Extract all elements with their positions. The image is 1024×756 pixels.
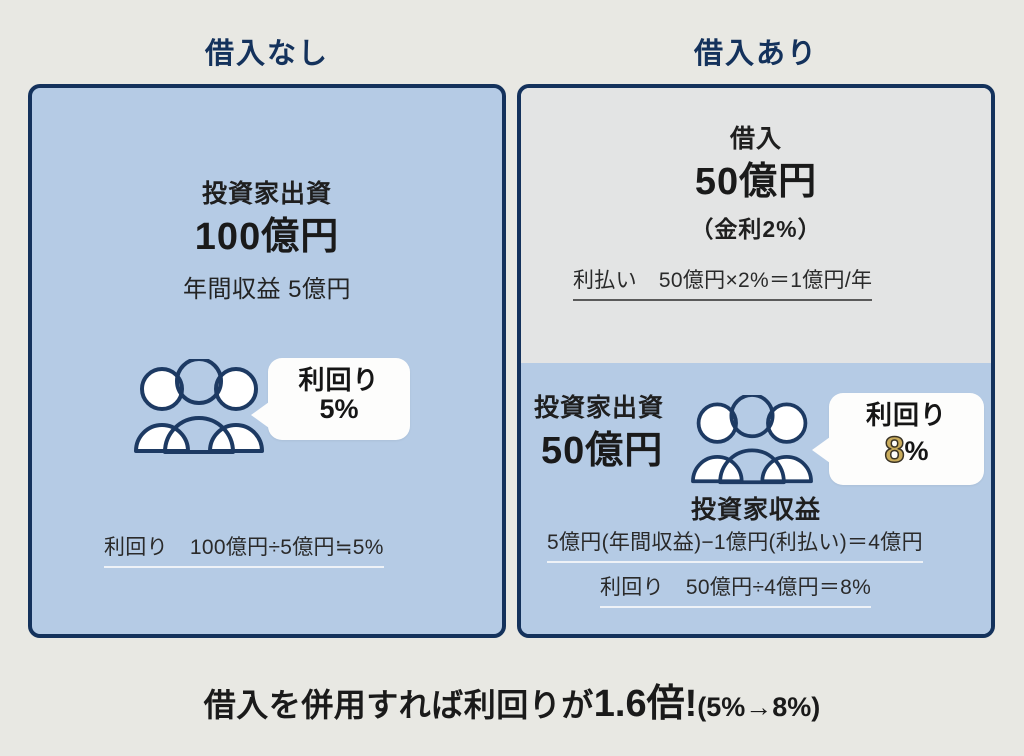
debt-interest-rate-note: （金利2%） (521, 210, 991, 244)
yield-callout-left: 利回り 5% (268, 358, 410, 440)
left-yield-formula-expression: 100億円÷5億円≒5% (190, 536, 384, 559)
caption-detail: (5%→8%) (697, 692, 820, 722)
debt-section: 借入 50億円 （金利2%） 利払い50億円×2%＝1億円/年 (521, 88, 991, 363)
callout-tail-icon (251, 402, 269, 428)
left-yield-formula-label: 利回り (104, 536, 168, 559)
interest-payment-formula-expression: 50億円×2%＝1億円/年 (659, 269, 872, 292)
debt-amount: 50億円 (521, 150, 991, 205)
yield-callout-left-value: 5% (268, 394, 410, 425)
panel-with-debt: 借入 50億円 （金利2%） 利払い50億円×2%＝1億円/年 投資家出資 50… (517, 84, 995, 638)
yield-callout-right-value-unit: % (905, 436, 929, 466)
interest-payment-formula: 利払い50億円×2%＝1億円/年 (573, 264, 872, 301)
yield-callout-right: 利回り 8% (829, 393, 984, 485)
left-equity-amount: 100億円 (32, 205, 502, 260)
right-yield-formula: 利回り50億円÷4億円＝8% (600, 571, 871, 608)
investor-return-formula: 5億円(年間収益)−1億円(利払い)＝4億円 (547, 526, 923, 563)
caption-multiplier: 1.6倍! (594, 683, 697, 725)
panel-no-debt: 投資家出資 100億円 年間収益 5億円 利回り100億円÷5億円≒5% (28, 84, 506, 638)
right-yield-formula-expression: 50億円÷4億円＝8% (686, 576, 871, 599)
right-yield-formula-label: 利回り (600, 576, 664, 599)
interest-payment-formula-label: 利払い (573, 269, 637, 292)
yield-callout-left-title: 利回り (268, 367, 410, 394)
people-group-icon (134, 359, 264, 460)
column-title-no-debt: 借入なし (28, 30, 506, 72)
yield-callout-right-value-highlight: 8 (884, 429, 904, 470)
summary-caption: 借入を併用すれば利回りが1.6倍!(5%→8%) (0, 672, 1024, 727)
yield-callout-right-title: 利回り (829, 402, 984, 429)
diagram-canvas: 借入なし 借入あり 投資家出資 100億円 年間収益 5億円 利回り100億円÷… (0, 0, 1024, 756)
left-yield-formula: 利回り100億円÷5億円≒5% (104, 531, 384, 568)
right-equity-amount: 50億円 (541, 419, 663, 474)
callout-tail-icon (812, 437, 830, 463)
column-title-with-debt: 借入あり (517, 30, 995, 72)
left-annual-income: 年間収益 5億円 (32, 269, 502, 304)
caption-lead: 借入を併用すれば利回りが (204, 687, 594, 723)
yield-callout-right-value: 8% (829, 429, 984, 470)
investor-return-label: 投資家収益 (521, 490, 991, 526)
people-group-icon (691, 395, 813, 490)
